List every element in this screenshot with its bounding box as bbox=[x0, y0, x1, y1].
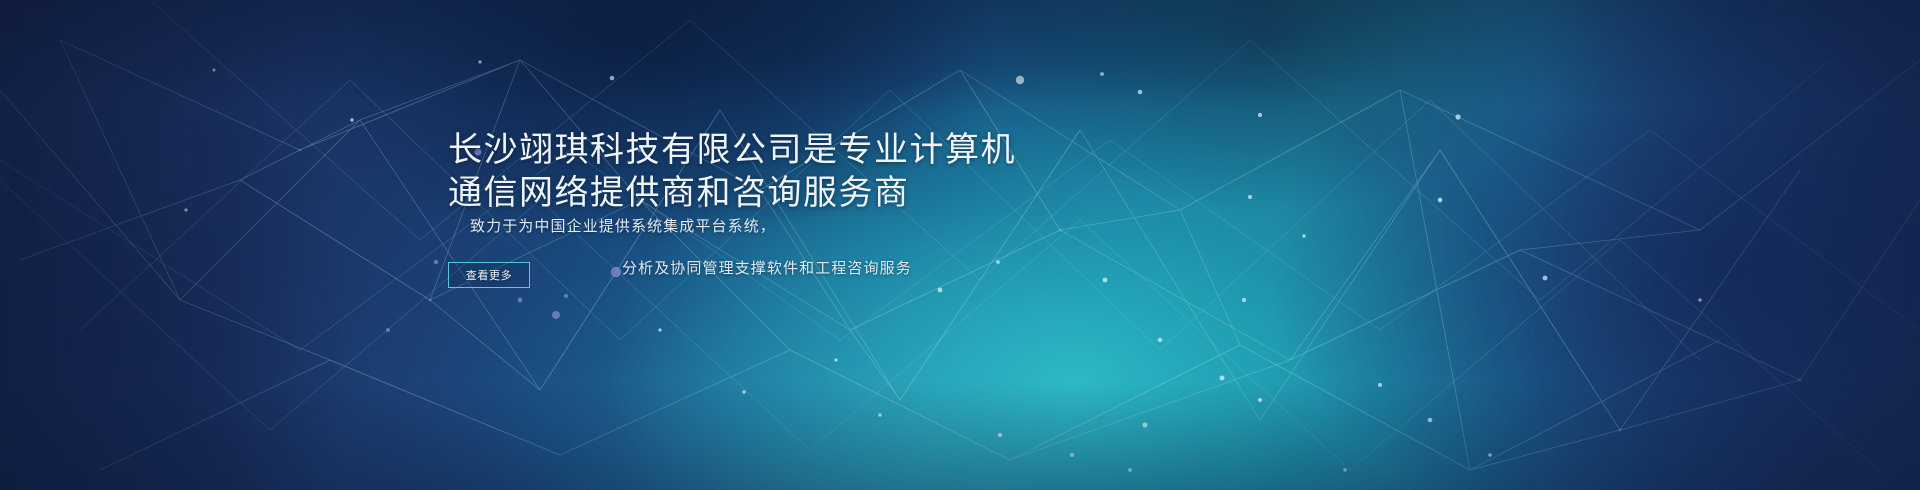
hero-subtitle-line-1: 致力于为中国企业提供系统集成平台系统， bbox=[470, 215, 776, 236]
view-more-button[interactable]: 查看更多 bbox=[448, 262, 530, 288]
hero-content: 长沙翊琪科技有限公司是专业计算机 通信网络提供商和咨询服务商 致力于为中国企业提… bbox=[0, 0, 1920, 490]
headline-line-1: 长沙翊琪科技有限公司是专业计算机 bbox=[448, 129, 1016, 172]
headline-line-2: 通信网络提供商和咨询服务商 bbox=[448, 172, 1016, 215]
hero-headline: 长沙翊琪科技有限公司是专业计算机 通信网络提供商和咨询服务商 bbox=[448, 129, 1016, 215]
hero-banner: 长沙翊琪科技有限公司是专业计算机 通信网络提供商和咨询服务商 致力于为中国企业提… bbox=[0, 0, 1920, 490]
hero-subtitle-line-2: 分析及协同管理支撑软件和工程咨询服务 bbox=[622, 257, 912, 278]
